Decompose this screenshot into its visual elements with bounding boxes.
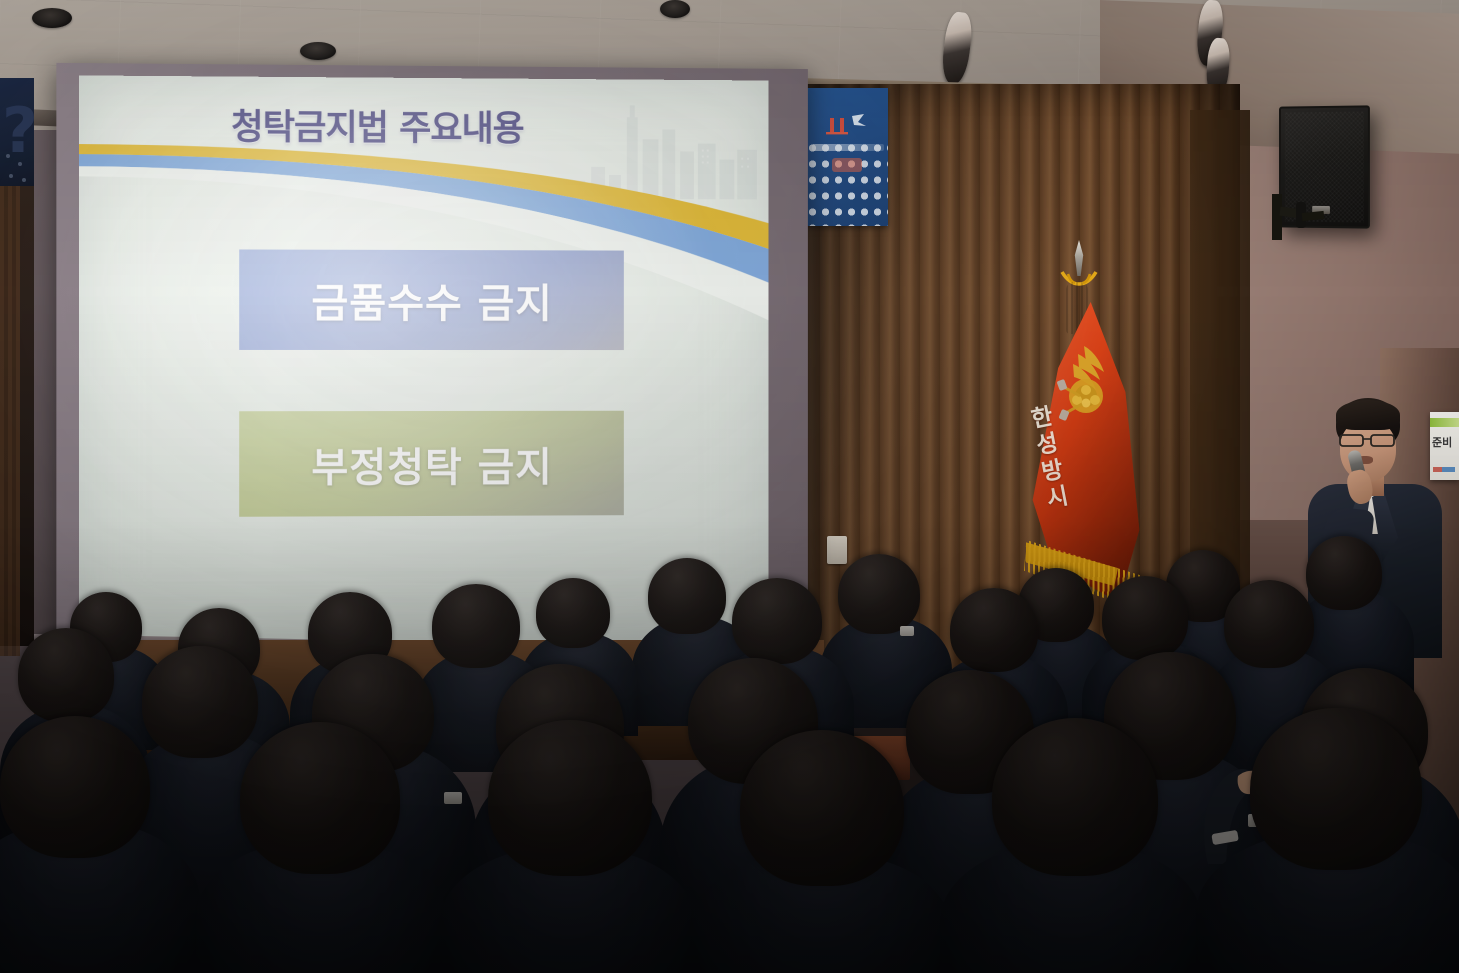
recessed-downlight: [660, 0, 690, 18]
audience-member-head: [740, 730, 904, 886]
seated-audience: [0, 520, 1459, 973]
winged-golden-emblem-icon: [1052, 340, 1124, 436]
banner-text-line: [812, 144, 884, 151]
glasses-icon: [1339, 434, 1397, 447]
audience-collar: [444, 792, 462, 804]
banner-logo-icon: [824, 112, 870, 138]
audience-member-head: [18, 628, 114, 722]
audience-member-head: [950, 588, 1038, 672]
audience-member-head: [0, 716, 150, 858]
auditorium-scene: ? 준비: [0, 0, 1459, 973]
banner-accent-mark: [832, 158, 862, 172]
recessed-downlight: [32, 8, 72, 28]
presenter-hair-front: [1336, 400, 1400, 430]
navy-banner: ?: [0, 78, 34, 186]
audience-member-head: [488, 720, 652, 876]
audience-member-head: [838, 554, 920, 634]
blue-dotted-banner: [806, 88, 888, 226]
banner-dot-pattern: [806, 140, 888, 226]
recessed-downlight: [300, 42, 336, 60]
audience-member-head: [1102, 576, 1188, 660]
audience-collar: [900, 626, 914, 636]
audience-member-head: [240, 722, 400, 874]
audience-member-head: [1250, 708, 1422, 870]
audience-member-head: [1224, 580, 1314, 668]
audience-member-head: [142, 646, 258, 758]
audience-member-head: [732, 578, 822, 664]
audience-member-head: [536, 578, 610, 648]
audience-member-head: [992, 718, 1158, 876]
audience-member-head: [1306, 536, 1382, 610]
audience-member-head: [648, 558, 726, 634]
slide-title: 청탁금지법 주요내용: [231, 99, 524, 152]
speaker-mount-bracket: [1272, 192, 1330, 244]
slide-box-gift-ban: 금품수수 금지: [239, 249, 624, 350]
audience-member-head: [432, 584, 520, 668]
slide-box-improper-solicitation-ban: 부정청탁 금지: [239, 411, 624, 517]
